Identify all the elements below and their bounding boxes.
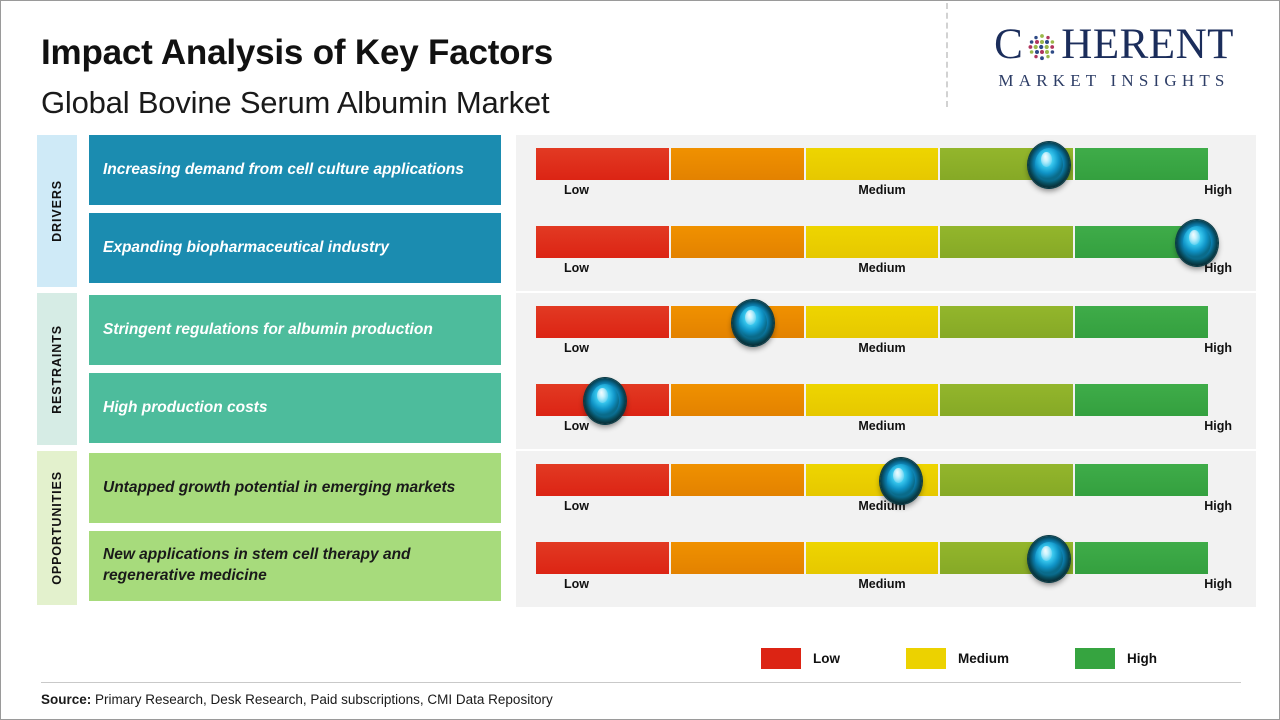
gauge-segment-medium [806,306,939,338]
group-opportunities: OPPORTUNITIES Untapped growth potential … [1,449,1280,609]
gauge-segment-high [1075,542,1208,574]
gauge-segment-high [1075,306,1208,338]
legend-swatch-low [761,648,801,669]
header-dashed-divider [946,3,948,107]
legend-swatch-medium [906,648,946,669]
gauge-scale-labels: Low Medium High [536,417,1228,441]
gauge-segment-mid-high [940,226,1073,258]
gauge-scale-labels: Low Medium High [536,259,1228,283]
gauge-segment-mid-high [940,306,1073,338]
gauge-bar [536,148,1208,180]
gauge-segment-low [536,226,669,258]
legend-label-low: Low [813,651,840,666]
scale-label-high: High [1204,499,1232,513]
gauge-segment-medium [806,542,939,574]
globe-icon [1024,29,1060,65]
factor-box[interactable]: Expanding biopharmaceutical industry [89,213,501,283]
gauge-segment-mid-high [940,384,1073,416]
gauge-segment-medium [806,226,939,258]
page-subtitle: Global Bovine Serum Albumin Market [41,85,549,121]
factor-text: New applications in stem cell therapy an… [103,545,487,587]
gauge-segment-low-mid [671,384,804,416]
gauge-segment-low-mid [671,464,804,496]
gauge-segment-low-mid [671,148,804,180]
legend-item-high: High [1075,648,1157,669]
scale-label-medium: Medium [536,261,1228,275]
matrix-row: Untapped growth potential in emerging ma… [1,449,1280,527]
gauge-scale-labels: Low Medium High [536,339,1228,363]
gauge-segment-low-mid [671,226,804,258]
impact-gauge: Low Medium High [516,371,1256,449]
legend-label-medium: Medium [958,651,1009,666]
source-label: Source: [41,692,91,707]
source-text: Primary Research, Desk Research, Paid su… [95,692,553,707]
factor-text: High production costs [103,398,267,419]
page-title: Impact Analysis of Key Factors [41,33,553,73]
factor-box[interactable]: Increasing demand from cell culture appl… [89,135,501,205]
gauge-segment-medium [806,148,939,180]
gauge-segment-low [536,464,669,496]
source-line: Source: Primary Research, Desk Research,… [41,692,553,707]
factor-text: Increasing demand from cell culture appl… [103,160,464,181]
gauge-segment-low [536,148,669,180]
gauge-scale-labels: Low Medium High [536,575,1228,599]
factor-text: Stringent regulations for albumin produc… [103,320,433,341]
impact-gauge: Low Medium High [516,213,1256,291]
gauge-marker[interactable] [880,458,922,504]
gauge-bar [536,542,1208,574]
header: Impact Analysis of Key Factors Global Bo… [1,1,1280,131]
gauge-bar [536,384,1208,416]
impact-gauge: Low Medium High [516,135,1256,213]
factor-box[interactable]: High production costs [89,373,501,443]
gauge-marker[interactable] [584,378,626,424]
logo-tagline: MARKET INSIGHTS [964,71,1264,91]
gauge-bar [536,226,1208,258]
gauge-bar [536,464,1208,496]
group-restraints: RESTRAINTS Stringent regulations for alb… [1,291,1280,449]
group-drivers: DRIVERS Increasing demand from cell cult… [1,131,1280,291]
logo-letter-c: C [994,23,1023,66]
gauge-segment-high [1075,384,1208,416]
factor-text: Expanding biopharmaceutical industry [103,238,389,259]
scale-label-high: High [1204,419,1232,433]
scale-label-medium: Medium [536,341,1228,355]
gauge-segment-mid-high [940,464,1073,496]
gauge-marker[interactable] [732,300,774,346]
gauge-marker[interactable] [1176,220,1218,266]
scale-label-high: High [1204,261,1232,275]
gauge-segment-low [536,542,669,574]
gauge-segment-low-mid [671,542,804,574]
logo-letters-herent: HERENT [1061,23,1234,66]
matrix-row: High production costs Low Medium High [1,369,1280,447]
legend-item-medium: Medium [906,648,1009,669]
gauge-scale-labels: Low Medium High [536,497,1228,521]
matrix-row: Expanding biopharmaceutical industry Low… [1,209,1280,287]
gauge-bar [536,306,1208,338]
slide-page: Impact Analysis of Key Factors Global Bo… [0,0,1280,720]
legend-label-high: High [1127,651,1157,666]
matrix-row: Increasing demand from cell culture appl… [1,131,1280,209]
scale-label-high: High [1204,341,1232,355]
scale-label-high: High [1204,577,1232,591]
impact-gauge: Low Medium High [516,529,1256,607]
impact-gauge: Low Medium High [516,293,1256,371]
gauge-segment-high [1075,148,1208,180]
scale-label-medium: Medium [536,183,1228,197]
matrix-row: New applications in stem cell therapy an… [1,527,1280,605]
logo-wordmark: C [964,23,1264,66]
factor-box[interactable]: Untapped growth potential in emerging ma… [89,453,501,523]
factor-box[interactable]: Stringent regulations for albumin produc… [89,295,501,365]
matrix-row: Stringent regulations for albumin produc… [1,291,1280,369]
gauge-segment-medium [806,384,939,416]
impact-matrix: DRIVERS Increasing demand from cell cult… [1,131,1280,609]
gauge-segment-high [1075,464,1208,496]
factor-text: Untapped growth potential in emerging ma… [103,478,455,499]
scale-label-medium: Medium [536,577,1228,591]
legend-item-low: Low [761,648,840,669]
gauge-segment-low [536,306,669,338]
impact-gauge: Low Medium High [516,451,1256,529]
factor-box[interactable]: New applications in stem cell therapy an… [89,531,501,601]
gauge-marker[interactable] [1028,142,1070,188]
gauge-scale-labels: Low Medium High [536,181,1228,205]
gauge-marker[interactable] [1028,536,1070,582]
legend-swatch-high [1075,648,1115,669]
company-logo: C [964,23,1264,91]
footer-divider [41,682,1241,683]
legend: Low Medium High [761,645,1221,671]
scale-label-medium: Medium [536,499,1228,513]
scale-label-high: High [1204,183,1232,197]
scale-label-medium: Medium [536,419,1228,433]
